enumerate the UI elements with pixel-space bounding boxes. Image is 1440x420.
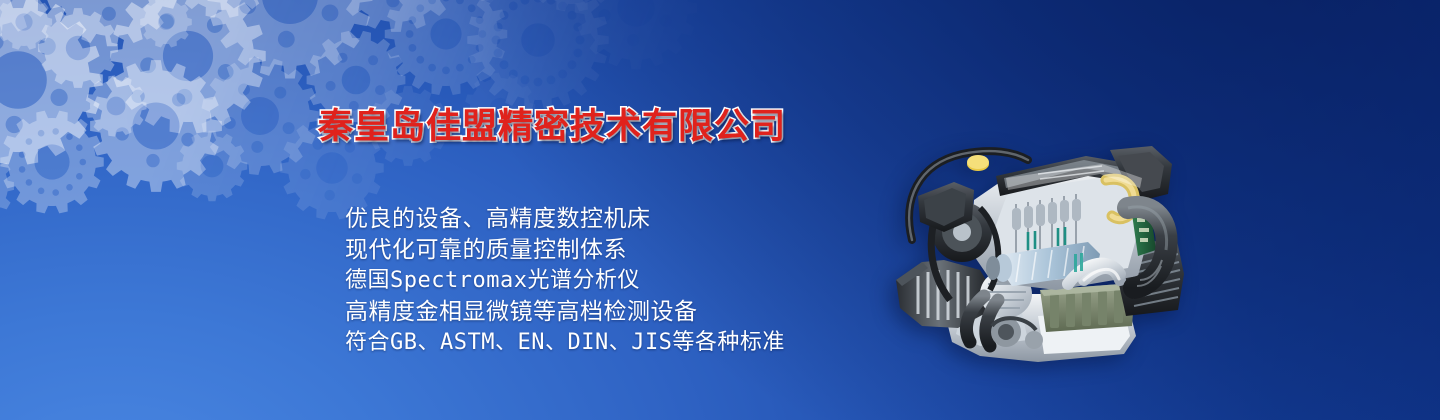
feature-line: 符合GB、ASTM、EN、DIN、JIS等各种标准 [345,327,785,358]
feature-line: 现代化可靠的质量控制体系 [345,234,785,265]
feature-line: 高精度金相显微镜等高档检测设备 [345,296,785,327]
car-engine-cutaway-image [888,104,1188,376]
feature-line: 优良的设备、高精度数控机床 [345,203,785,234]
feature-list: 优良的设备、高精度数控机床 现代化可靠的质量控制体系 德国Spectromax光… [345,203,785,358]
page-title: 秦皇岛佳盟精密技术有限公司 [318,98,786,149]
feature-line: 德国Spectromax光谱分析仪 [345,265,785,296]
company-banner: 秦皇岛佳盟精密技术有限公司 秦皇岛佳盟精密技术有限公司 优良的设备、高精度数控机… [0,0,1440,420]
